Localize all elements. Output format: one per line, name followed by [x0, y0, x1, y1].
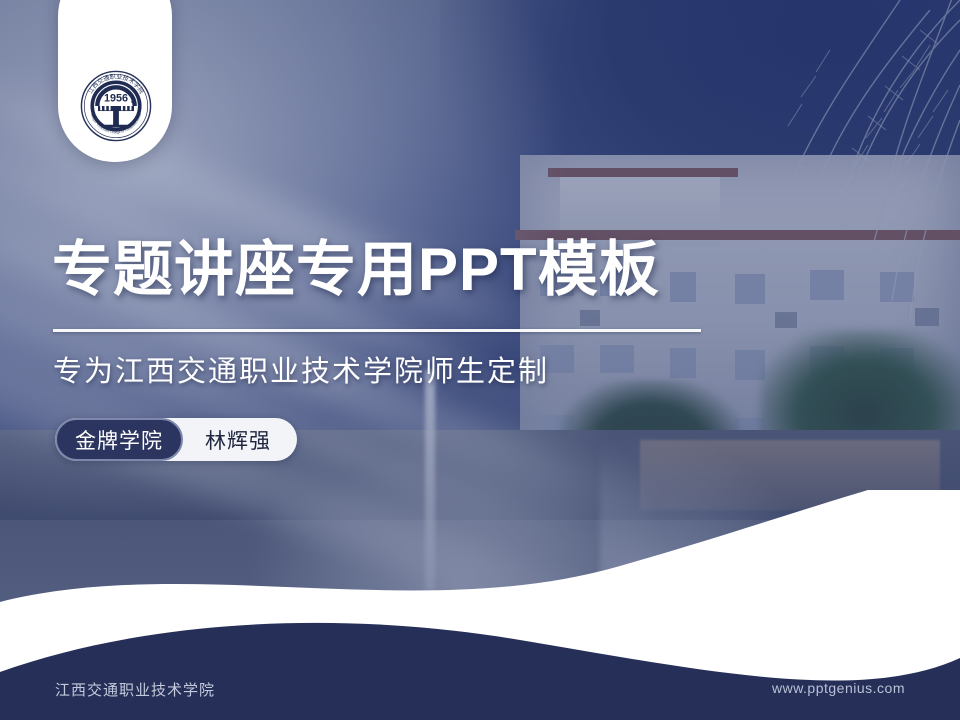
footer-website[interactable]: www.pptgenius.com — [772, 680, 905, 696]
svg-text:1956: 1956 — [104, 93, 128, 105]
presenter-name: 林辉强 — [183, 425, 271, 455]
presenter-badge: 金牌学院 林辉强 — [55, 418, 297, 461]
badge-tag-label: 金牌学院 — [55, 418, 183, 461]
title-divider-line — [53, 329, 701, 332]
page-subtitle: 专为江西交通职业技术学院师生定制 — [53, 348, 549, 390]
page-title: 专题讲座专用PPT模板 — [52, 236, 660, 303]
ppt-title-slide: 1956 江西交通职业技术学院 Jiangxi Vocational Colle… — [0, 0, 960, 720]
college-logo-icon: 1956 江西交通职业技术学院 Jiangxi Vocational Colle… — [80, 70, 152, 142]
footer-institution: 江西交通职业技术学院 — [55, 679, 215, 700]
